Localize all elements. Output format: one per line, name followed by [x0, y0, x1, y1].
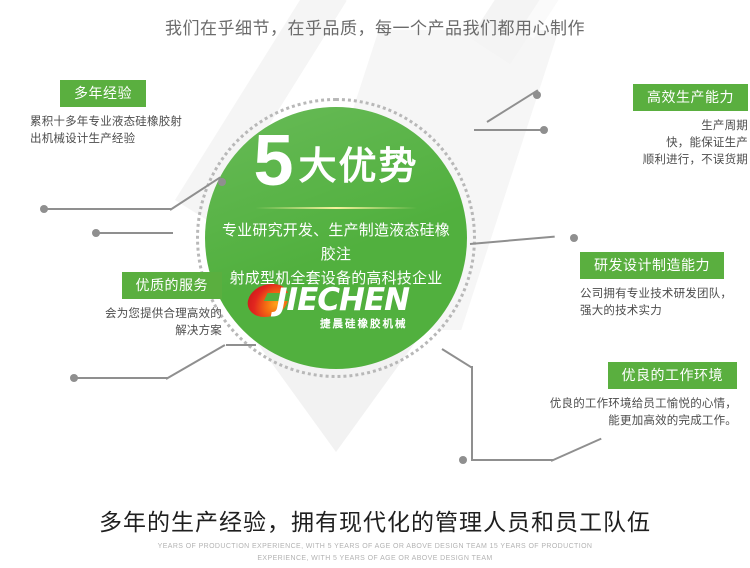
logo-inner: JIECHEN 捷晨硅橡胶机械	[248, 282, 424, 334]
feature-desc-rd-line-1: 公司拥有专业技术研发团队，	[580, 286, 750, 303]
feature-experience: 多年经验 累积十多年专业液态硅橡胶射 出机械设计生产经验	[30, 80, 245, 148]
connector-dot-environment	[459, 456, 467, 464]
feature-desc-experience-line-2: 出机械设计生产经验	[30, 131, 245, 148]
connector-line-bottom-left-2	[226, 344, 256, 346]
footer-subtitle-line-1: YEARS OF PRODUCTION EXPERIENCE, WITH 5 Y…	[0, 541, 750, 553]
advantage-count: 5	[253, 121, 292, 201]
connector-line-capacity	[474, 129, 542, 131]
feature-service: 优质的服务 会为您提供合理高效的 解决方案	[22, 272, 222, 340]
divider-line	[255, 207, 417, 209]
connector-line-bottom-left	[76, 377, 168, 379]
advantage-count-suffix: 大优势	[299, 146, 419, 188]
connector-diagonal-capacity	[486, 89, 538, 122]
feature-environment: 优良的工作环境 优良的工作环境给员工愉悦的心情， 能更加高效的完成工作。	[452, 362, 737, 430]
footer-subtitle-line-2: EXPERIENCE, WITH 5 YEARS OF AGE OR ABOVE…	[0, 553, 750, 565]
logo-subtitle: 捷晨硅橡胶机械	[320, 316, 408, 331]
connector-line-experience	[46, 208, 171, 210]
feature-badge-environment: 优良的工作环境	[608, 362, 738, 389]
connector-endpoint-experience	[218, 178, 226, 186]
feature-desc-environment-line-2: 能更加高效的完成工作。	[452, 413, 737, 430]
feature-badge-rd: 研发设计制造能力	[580, 252, 724, 279]
feature-badge-service: 优质的服务	[122, 272, 223, 299]
logo-wordmark: JIECHEN	[276, 282, 409, 318]
connector-endpoint-capacity	[533, 91, 541, 99]
feature-desc-environment: 优良的工作环境给员工愉悦的心情， 能更加高效的完成工作。	[452, 396, 737, 430]
feature-rd: 研发设计制造能力 公司拥有专业技术研发团队， 强大的技术实力	[580, 252, 750, 320]
connector-dot-rd	[570, 234, 578, 242]
connector-line-rd	[470, 236, 555, 245]
footer-title: 多年的生产经验，拥有现代化的管理人员和员工队伍	[0, 503, 750, 537]
feature-desc-capacity-line-3: 顺利进行，不误货期	[548, 152, 748, 169]
feature-desc-capacity-line-1: 生产周期	[548, 118, 748, 135]
feature-desc-capacity-line-2: 快，能保证生产	[548, 135, 748, 152]
company-logo: JIECHEN 捷晨硅橡胶机械	[205, 282, 467, 339]
connector-line-service	[98, 232, 173, 234]
feature-desc-service: 会为您提供合理高效的 解决方案	[22, 306, 222, 340]
feature-desc-service-line-1: 会为您提供合理高效的	[22, 306, 222, 323]
feature-badge-capacity: 高效生产能力	[633, 84, 748, 111]
central-description: 专业研究开发、生产制造液态硅橡胶注 射成型机全套设备的高科技企业	[215, 219, 457, 291]
feature-desc-rd: 公司拥有专业技术研发团队， 强大的技术实力	[580, 286, 750, 320]
footer-subtitle: YEARS OF PRODUCTION EXPERIENCE, WITH 5 Y…	[0, 541, 750, 565]
page-title: 我们在乎细节，在乎品质，每一个产品我们都用心制作	[0, 14, 750, 39]
feature-badge-experience: 多年经验	[60, 80, 146, 107]
feature-desc-environment-line-1: 优良的工作环境给员工愉悦的心情，	[452, 396, 737, 413]
central-description-line-1: 专业研究开发、生产制造液态硅橡胶注	[215, 219, 457, 267]
feature-desc-rd-line-2: 强大的技术实力	[580, 303, 750, 320]
infographic-canvas: 我们在乎细节，在乎品质，每一个产品我们都用心制作 5大优势 专业研究开发、生产制…	[0, 0, 750, 568]
feature-desc-capacity: 生产周期 快，能保证生产 顺利进行，不误货期	[548, 118, 748, 169]
connector-diagonal-bottom-left	[166, 344, 226, 380]
feature-capacity: 高效生产能力 生产周期 快，能保证生产 顺利进行，不误货期	[548, 84, 748, 169]
feature-desc-experience: 累积十多年专业液态硅橡胶射 出机械设计生产经验	[30, 114, 245, 148]
connector-line-environment	[471, 459, 553, 461]
feature-desc-service-line-2: 解决方案	[22, 323, 222, 340]
feature-desc-experience-line-1: 累积十多年专业液态硅橡胶射	[30, 114, 245, 131]
connector-diagonal-environment-2	[551, 438, 602, 462]
